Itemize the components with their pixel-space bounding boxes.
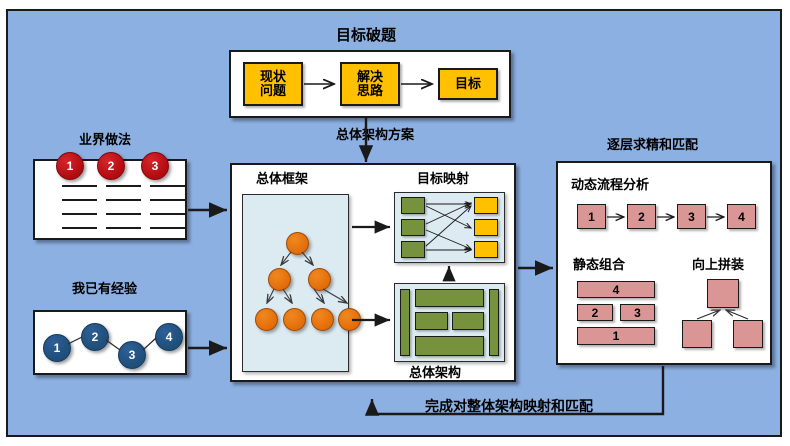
static-composition-row-2-item-2[interactable]: 3 bbox=[620, 304, 655, 321]
static-composition-row-1-item-1[interactable]: 4 bbox=[577, 281, 655, 298]
architecture-mid-left[interactable] bbox=[415, 312, 448, 330]
bottom-up-child-box-2[interactable] bbox=[733, 320, 763, 348]
bottom-up-child-box-1[interactable] bbox=[682, 320, 712, 348]
top-section-title: 目标破题 bbox=[336, 28, 396, 43]
architecture-bottom-bar[interactable] bbox=[415, 336, 484, 356]
bottom-up-title: 向上拼装 bbox=[692, 258, 744, 271]
tree-mid-node-2[interactable] bbox=[308, 268, 331, 291]
experience-node-2[interactable]: 2 bbox=[81, 323, 109, 351]
industry-col-1-row-2 bbox=[62, 199, 97, 201]
industry-col-3-row-2 bbox=[150, 199, 185, 201]
goal-step-1-line2: 问题 bbox=[260, 83, 286, 98]
mapping-source-2[interactable] bbox=[401, 219, 425, 236]
architecture-top-bar[interactable] bbox=[415, 289, 484, 307]
dynamic-flow-step-2[interactable]: 2 bbox=[627, 204, 656, 229]
bottom-up-parent-box[interactable] bbox=[707, 279, 739, 308]
industry-col-2-row-1 bbox=[106, 185, 141, 187]
industry-badge-3-label: 3 bbox=[152, 159, 159, 173]
industry-col-2-row-4 bbox=[106, 227, 141, 229]
mapping-source-1[interactable] bbox=[401, 197, 425, 214]
experience-node-3-label: 3 bbox=[129, 348, 136, 362]
static-composition-title: 静态组合 bbox=[573, 258, 625, 271]
industry-col-3-row-3 bbox=[150, 213, 185, 215]
tree-leaf-node-1[interactable] bbox=[255, 308, 278, 331]
center-section-title: 总体架构方案 bbox=[336, 128, 414, 141]
static-composition-row-3-item-1[interactable]: 1 bbox=[577, 327, 655, 345]
goal-step-1[interactable]: 现状 问题 bbox=[243, 62, 303, 106]
dynamic-flow-step-1-label: 1 bbox=[588, 210, 595, 224]
industry-col-1-row-1 bbox=[62, 185, 97, 187]
experience-node-3[interactable]: 3 bbox=[118, 341, 146, 369]
goal-step-3-line1: 目标 bbox=[455, 77, 481, 91]
goal-step-3[interactable]: 目标 bbox=[438, 68, 498, 100]
industry-badge-3[interactable]: 3 bbox=[141, 152, 169, 180]
feedback-loop-label: 完成对整体架构映射和匹配 bbox=[425, 399, 593, 413]
industry-practice-title: 业界做法 bbox=[79, 133, 131, 146]
experience-node-1-label: 1 bbox=[54, 341, 61, 355]
experience-node-4[interactable]: 4 bbox=[155, 323, 183, 351]
industry-col-2-row-3 bbox=[106, 213, 141, 215]
architecture-right-bar[interactable] bbox=[489, 289, 499, 356]
tree-mid-node-1[interactable] bbox=[268, 268, 291, 291]
industry-col-1-row-4 bbox=[62, 227, 97, 229]
experience-node-2-label: 2 bbox=[92, 330, 99, 344]
experience-title: 我已有经验 bbox=[72, 282, 137, 295]
dynamic-flow-step-3[interactable]: 3 bbox=[677, 204, 706, 229]
mapping-source-3[interactable] bbox=[401, 241, 425, 258]
architecture-title: 总体架构 bbox=[409, 366, 461, 379]
static-composition-row-2-item-1[interactable]: 2 bbox=[577, 304, 613, 321]
mapping-target-3[interactable] bbox=[474, 241, 498, 258]
industry-col-2-row-2 bbox=[106, 199, 141, 201]
experience-node-4-label: 4 bbox=[166, 330, 173, 344]
mapping-title: 目标映射 bbox=[417, 172, 469, 185]
dynamic-flow-step-3-label: 3 bbox=[688, 210, 695, 224]
mapping-target-1[interactable] bbox=[474, 197, 498, 214]
dynamic-flow-step-2-label: 2 bbox=[638, 210, 645, 224]
framework-tree-box bbox=[242, 194, 349, 372]
industry-badge-2[interactable]: 2 bbox=[97, 152, 125, 180]
tree-leaf-node-2[interactable] bbox=[283, 308, 306, 331]
right-section-title: 逐层求精和匹配 bbox=[607, 138, 698, 151]
tree-leaf-node-4[interactable] bbox=[338, 308, 361, 331]
industry-badge-1-label: 1 bbox=[67, 159, 74, 173]
architecture-mid-right[interactable] bbox=[452, 312, 484, 330]
static-composition-row-2-item-1-label: 2 bbox=[592, 306, 599, 320]
architecture-left-bar[interactable] bbox=[400, 289, 410, 356]
experience-node-1[interactable]: 1 bbox=[43, 334, 71, 362]
framework-title: 总体框架 bbox=[256, 172, 308, 185]
tree-leaf-node-3[interactable] bbox=[311, 308, 334, 331]
industry-col-1-row-3 bbox=[62, 213, 97, 215]
industry-badge-1[interactable]: 1 bbox=[56, 152, 84, 180]
dynamic-flow-title: 动态流程分析 bbox=[571, 178, 649, 191]
industry-col-3-row-4 bbox=[150, 227, 185, 229]
static-composition-row-3-item-1-label: 1 bbox=[613, 329, 620, 343]
goal-step-2[interactable]: 解决 思路 bbox=[340, 62, 400, 106]
industry-col-3-row-1 bbox=[150, 185, 185, 187]
dynamic-flow-step-4[interactable]: 4 bbox=[727, 204, 756, 229]
industry-badge-2-label: 2 bbox=[108, 159, 115, 173]
static-composition-row-2-item-2-label: 3 bbox=[634, 306, 641, 320]
tree-root-node[interactable] bbox=[286, 232, 309, 255]
goal-step-2-line2: 思路 bbox=[357, 83, 383, 98]
mapping-target-2[interactable] bbox=[474, 219, 498, 236]
static-composition-row-1-item-1-label: 4 bbox=[613, 283, 620, 297]
dynamic-flow-step-1[interactable]: 1 bbox=[577, 204, 606, 229]
dynamic-flow-step-4-label: 4 bbox=[738, 210, 745, 224]
diagram-canvas: 目标破题 现状 问题 解决 思路 目标 总体架构方案 业界做法 1 2 3 我已 bbox=[0, 0, 790, 446]
